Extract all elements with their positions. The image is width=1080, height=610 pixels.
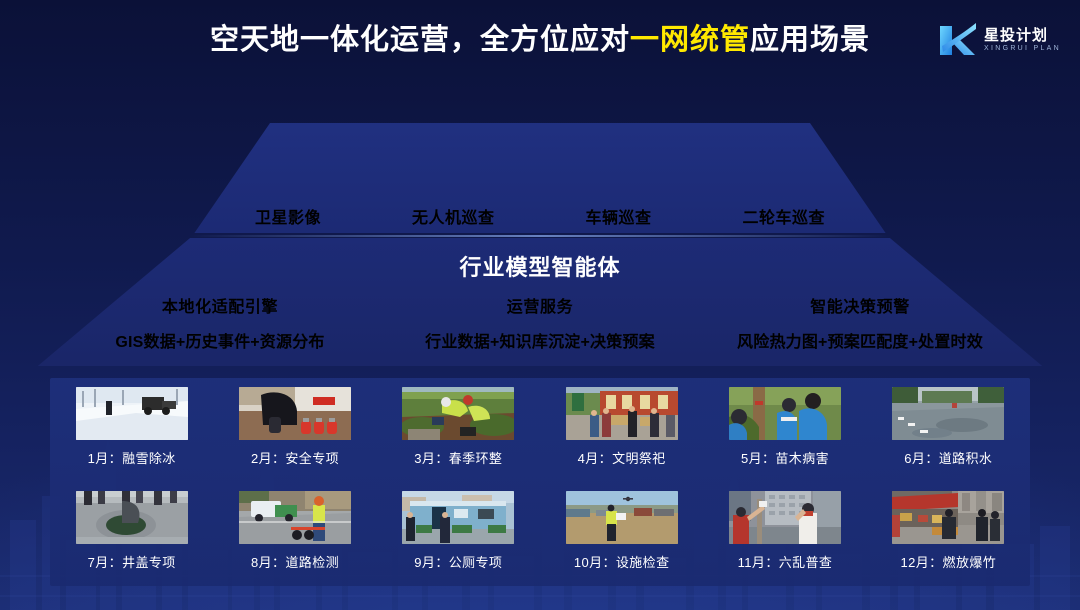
brand-name-en: XINGRUI PLAN [984,44,1061,54]
tier-top-item-two-wheeler[interactable]: 二轮车巡查 [742,204,825,228]
gallery-caption: 1月：融雪除冰 [88,448,176,467]
gallery-cell[interactable]: 1月：融雪除冰 [50,378,213,482]
gallery-cell[interactable]: 7月：井盖专项 [50,482,213,586]
gallery-caption: 6月：道路积水 [904,448,992,467]
k-swoosh-logo-icon [934,19,978,61]
page-title-before: 空天地一体化运营，全方位应对 [210,24,630,56]
tier-divider [190,235,890,237]
gallery-caption: 9月：公厕专项 [414,552,502,571]
gallery-cell[interactable]: 10月：设施检查 [540,482,703,586]
pyramid-diagram: 城市治理一网统管新模式 卫星影像 无人机巡查 车辆巡查 二轮车巡查 行业模型智能… [0,118,1080,370]
gallery-caption: 4月：文明祭祀 [578,448,666,467]
slide-canvas: 空天地一体化运营，全方位应对一网统管应用场景 星 [0,0,1080,610]
column-head-operations: 运营服务 [384,293,696,317]
gallery-caption: 12月：燃放爆竹 [900,552,996,571]
gallery-cell[interactable]: 8月：道路检测 [213,482,376,586]
brand-logo-text: 星投计划 XINGRUI PLAN [984,27,1061,54]
volunteer-survey-photo[interactable] [729,491,841,544]
flooded-road-photo[interactable] [892,387,1004,440]
tier-top-item-satellite[interactable]: 卫星影像 [255,204,321,228]
column-sub-operations: 行业数据+知识库沉淀+决策预案 [384,328,696,352]
manhole-cover-photo[interactable] [76,491,188,544]
gallery-cell[interactable]: 6月：道路积水 [867,378,1030,482]
gallery-caption: 2月：安全专项 [251,448,339,467]
gallery-cell[interactable]: 5月：苗木病害 [703,378,866,482]
monthly-cases-panel: 1月：融雪除冰 [50,378,1030,586]
tier-top-items: 卫星影像 无人机巡查 车辆巡查 二轮车巡查 [255,204,825,228]
tier-top-item-vehicle[interactable]: 车辆巡查 [585,204,651,228]
column-head-decision: 智能决策预警 [704,293,1016,317]
gallery-cell[interactable]: 4月：文明祭祀 [540,378,703,482]
column-head-localization: 本地化适配引擎 [64,293,376,317]
gallery-cell[interactable]: 9月：公厕专项 [377,482,540,586]
tier-middle-column-operations[interactable]: 运营服务 行业数据+知识库沉淀+决策预案 [380,293,700,352]
public-toilet-photo[interactable] [402,491,514,544]
tier-middle-column-decision[interactable]: 智能决策预警 风险热力图+预案匹配度+处置时效 [700,293,1020,352]
gallery-caption: 5月：苗木病害 [741,448,829,467]
gallery-cell[interactable]: 12月：燃放爆竹 [867,482,1030,586]
tier-middle-columns: 本地化适配引擎 GIS数据+历史事件+资源分布 运营服务 行业数据+知识库沉淀+… [60,293,1020,352]
gallery-cell[interactable]: 11月：六乱普查 [703,482,866,586]
gallery-caption: 10月：设施检查 [574,552,670,571]
brand-name-cn: 星投计划 [984,27,1061,44]
road-survey-photo[interactable] [239,491,351,544]
greenery-workers-photo[interactable] [402,387,514,440]
tree-inspection-photo[interactable] [729,387,841,440]
gallery-cell[interactable]: 3月：春季环整 [377,378,540,482]
gallery-caption: 3月：春季环整 [414,448,502,467]
slide-header: 空天地一体化运营，全方位应对一网统管应用场景 星 [0,0,1080,80]
brand-logo: 星投计划 XINGRUI PLAN [934,17,1062,63]
column-sub-localization: GIS数据+历史事件+资源分布 [64,328,376,352]
tier-top-item-drone[interactable]: 无人机巡查 [412,204,495,228]
monthly-cases-grid: 1月：融雪除冰 [50,378,1030,586]
drone-facility-check-photo[interactable] [566,491,678,544]
page-title-highlight: 一网统管 [630,24,750,56]
gallery-caption: 7月：井盖专项 [88,552,176,571]
column-sub-decision: 风险热力图+预案匹配度+处置时效 [704,328,1016,352]
gas-cylinder-check-photo[interactable] [239,387,351,440]
street-market-photo[interactable] [892,491,1004,544]
gallery-caption: 11月：六乱普查 [738,552,833,571]
snow-clearing-photo[interactable] [76,387,188,440]
gallery-caption: 8月：道路检测 [251,552,339,571]
tier-middle-title: 行业模型智能体 [0,250,1080,282]
tier-middle-column-localization[interactable]: 本地化适配引擎 GIS数据+历史事件+资源分布 [60,293,380,352]
memorial-campaign-photo[interactable] [566,387,678,440]
page-title: 空天地一体化运营，全方位应对一网统管应用场景 [0,20,1080,60]
page-title-after: 应用场景 [750,24,870,56]
gallery-cell[interactable]: 2月：安全专项 [213,378,376,482]
